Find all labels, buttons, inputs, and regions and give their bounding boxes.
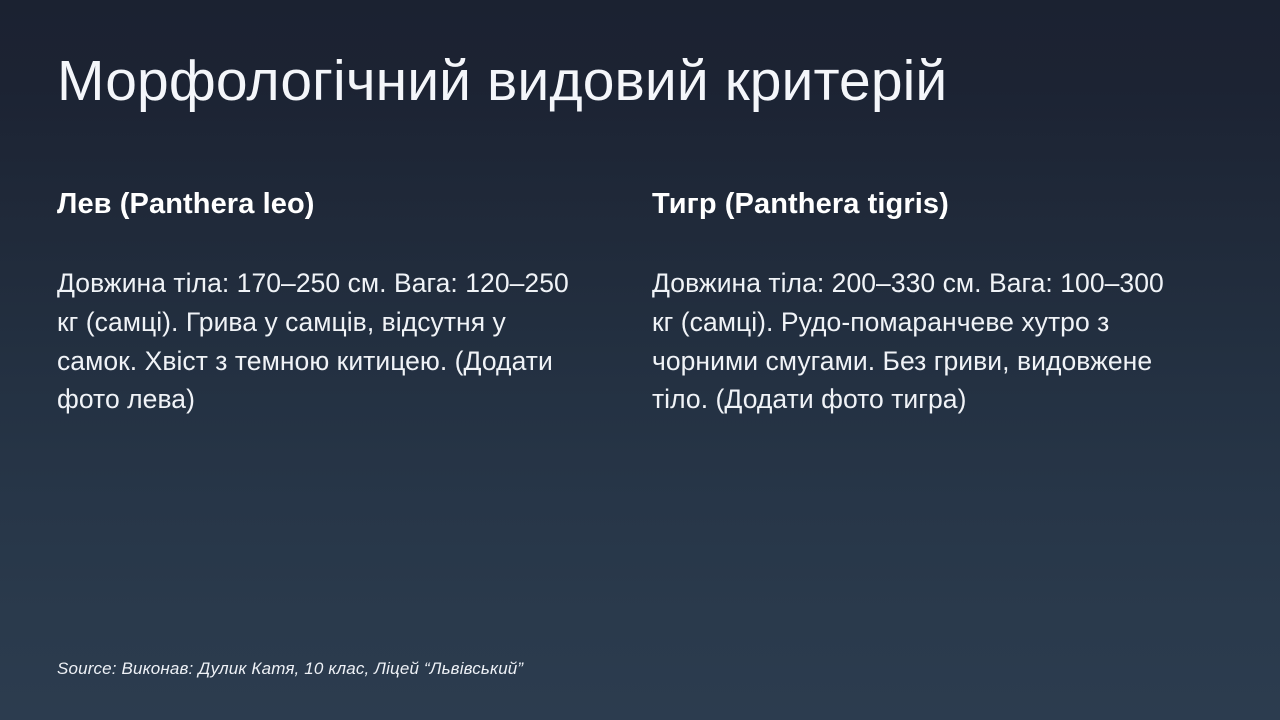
column-body-lion: Довжина тіла: 170–250 см. Вага: 120–250 … <box>57 264 575 419</box>
column-heading-lion: Лев (Panthera leo) <box>57 186 575 222</box>
column-tiger: Тигр (Panthera tigris) Довжина тіла: 200… <box>652 186 1170 419</box>
column-lion: Лев (Panthera leo) Довжина тіла: 170–250… <box>57 186 575 419</box>
content-columns: Лев (Panthera leo) Довжина тіла: 170–250… <box>57 186 1223 419</box>
column-heading-tiger: Тигр (Panthera tigris) <box>652 186 1170 222</box>
presentation-slide: Морфологічний видовий критерій Лев (Pant… <box>0 0 1280 720</box>
page-title: Морфологічний видовий критерій <box>57 50 1217 114</box>
column-body-tiger: Довжина тіла: 200–330 см. Вага: 100–300 … <box>652 264 1170 419</box>
source-note: Source: Виконав: Дулик Катя, 10 клас, Лі… <box>57 658 523 680</box>
